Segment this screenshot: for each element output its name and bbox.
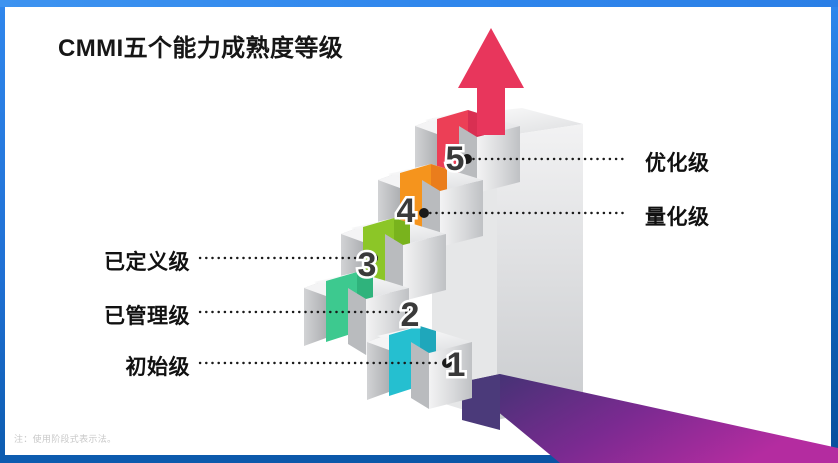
slide-canvas: CMMI五个能力成熟度等级 bbox=[0, 0, 838, 463]
footnote: 注：使用阶段式表示法。 bbox=[14, 432, 116, 445]
step-number-4: 4 bbox=[397, 192, 416, 230]
step-number-5: 5 bbox=[446, 140, 465, 178]
label-optimizing: 优化级 bbox=[645, 147, 710, 177]
step-number-2: 2 bbox=[401, 296, 420, 334]
ramp bbox=[462, 374, 838, 463]
label-managed: 已管理级 bbox=[0, 300, 190, 330]
step-number-3: 3 bbox=[358, 246, 377, 284]
cmmi-staircase-diagram: 5 4 3 2 1 bbox=[0, 0, 838, 463]
label-quantitative: 量化级 bbox=[645, 201, 710, 231]
step-number-1: 1 bbox=[447, 346, 466, 384]
leader-dot-4 bbox=[419, 208, 429, 218]
label-defined: 已定义级 bbox=[0, 246, 190, 276]
label-initial: 初始级 bbox=[0, 351, 190, 381]
